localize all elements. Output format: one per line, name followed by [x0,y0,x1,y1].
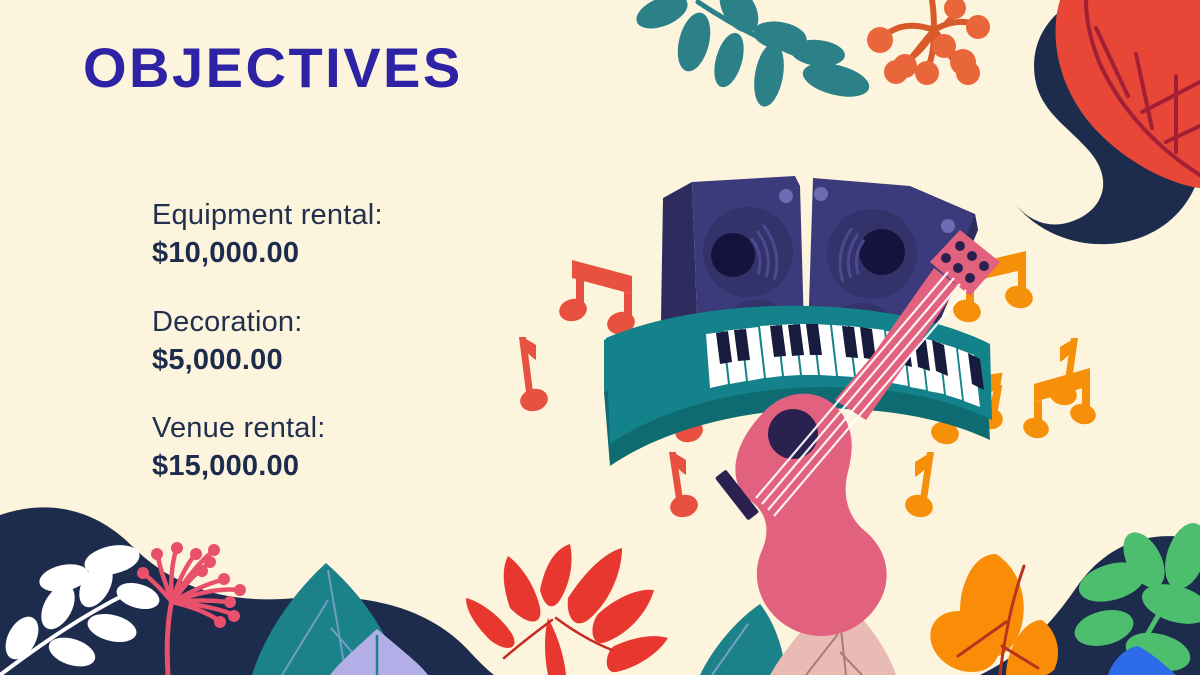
page-title: OBJECTIVES [83,40,463,96]
objectives-list: Equipment rental: $10,000.00 Decoration:… [152,196,532,486]
music-note-orange-single-right [1047,338,1079,408]
navy-blob-top-right [1012,0,1200,244]
objective-label: Venue rental: [152,409,532,447]
orange-berry-cluster-top [867,0,990,85]
objective-amount: $15,000.00 [152,447,532,485]
red-leaf-top-right [1056,0,1200,188]
navy-blob-bottom-left [0,507,494,675]
guitar [691,230,1000,657]
slide-canvas: OBJECTIVES Equipment rental: $10,000.00 … [0,0,1200,675]
speaker-left [660,176,806,400]
music-note-orange-beamed-bottom [1021,368,1098,441]
objective-amount: $10,000.00 [152,234,532,272]
teal-leaf-branch-top [632,0,873,109]
music-note-orange-single-lower-right [903,452,935,520]
green-leaf-branch-bottom-right [1071,518,1200,675]
navy-blob-bottom-right [980,536,1200,675]
blue-leaf-bottom-right [1108,646,1176,675]
music-note-red-beamed-lower-left [613,368,705,445]
music-note-red-beamed-left [557,260,637,337]
objective-item-venue-rental: Venue rental: $15,000.00 [152,409,532,486]
objective-item-decoration: Decoration: $5,000.00 [152,303,532,380]
music-note-orange-beamed-right [951,251,1035,325]
red-fan-plant-bottom [466,544,668,675]
lavender-leaf-bottom [330,629,428,675]
orange-leaf-plant-bottom-right [930,554,1058,675]
pink-flower-bottom-left [137,542,246,675]
keyboard [604,306,992,466]
objective-label: Decoration: [152,303,532,341]
music-note-red-single-lower-left [668,452,700,520]
objective-label: Equipment rental: [152,196,532,234]
teal-leaf-bottom [252,563,400,675]
objective-amount: $5,000.00 [152,341,532,379]
dusty-pink-leaf-bottom [770,594,896,675]
music-note-orange-beamed-lower-right [929,364,1005,447]
teal-leaf-bottom-right [700,604,786,675]
objective-item-equipment-rental: Equipment rental: $10,000.00 [152,196,532,273]
white-leaf-branch-bottom-left [0,540,162,675]
speaker-right [806,178,978,404]
